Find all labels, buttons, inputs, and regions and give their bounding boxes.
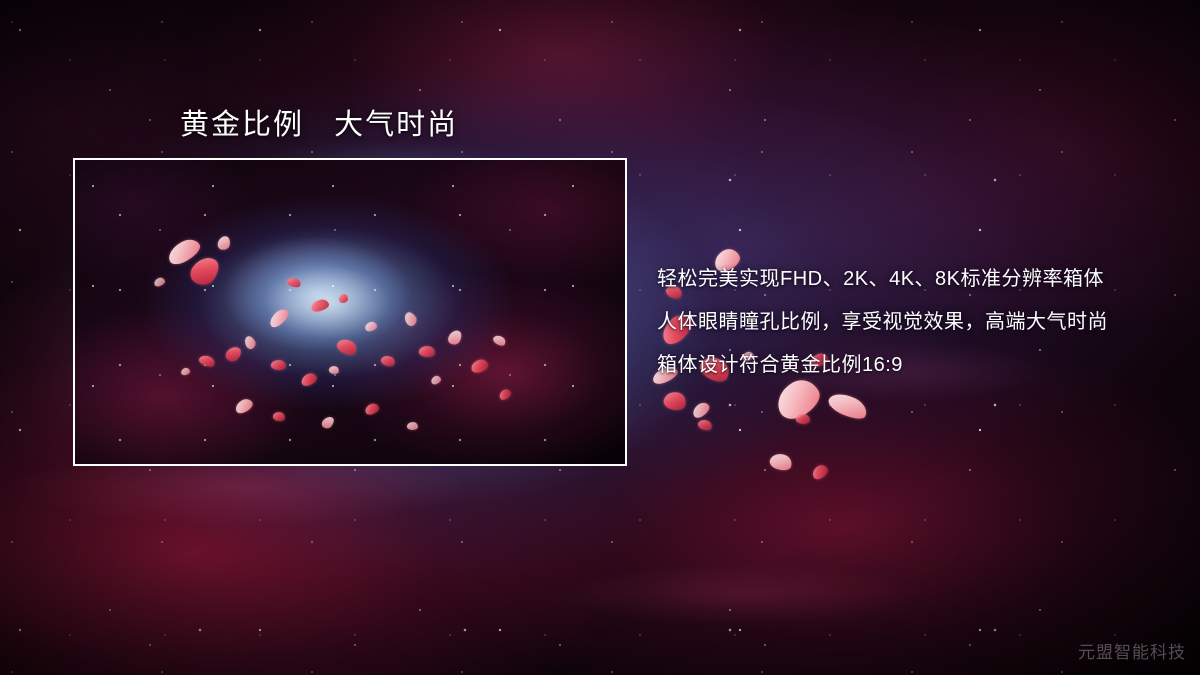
company-watermark: 元盟智能科技: [1078, 638, 1186, 663]
petal: [690, 400, 712, 420]
body-line-3: 箱体设计符合黄金比例16:9: [657, 344, 1167, 387]
body-line-2: 人体眼睛瞳孔比例，享受视觉效果，高端大气时尚: [657, 301, 1167, 344]
petal: [662, 389, 688, 413]
petal: [795, 413, 811, 425]
body-copy-block: 轻松完美实现FHD、2K、4K、8K标准分辨率箱体 人体眼睛瞳孔比例，享受视觉效…: [657, 258, 1167, 387]
galaxy-photo-frame: [73, 158, 627, 466]
petal: [768, 451, 794, 474]
petal: [697, 418, 714, 433]
petal: [810, 463, 830, 481]
presentation-slide: 黄金比例 大气时尚 轻松完美实现FHD、2K、4K、8K标准分辨率箱体 人体眼睛…: [0, 0, 1200, 675]
page-title: 黄金比例 大气时尚: [180, 101, 458, 143]
inset-starfield: [75, 160, 625, 464]
petal: [826, 388, 871, 424]
body-line-1: 轻松完美实现FHD、2K、4K、8K标准分辨率箱体: [657, 258, 1167, 301]
